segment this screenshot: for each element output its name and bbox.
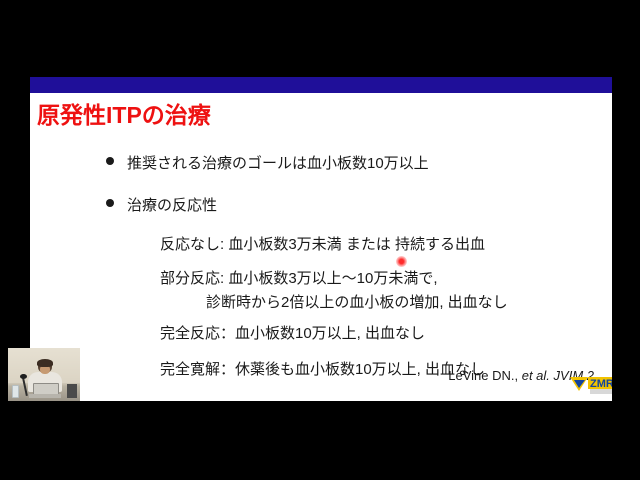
response-definition-complete-response: 完全反応：血小板数10万以上, 出血なし — [160, 325, 425, 343]
broadcaster-logo: ZMR — [568, 375, 612, 397]
citation-etal: et al. — [522, 368, 550, 383]
webcam-laptop-base — [29, 394, 61, 398]
webcam-presenter-hair — [37, 359, 53, 367]
response-definition-complete-remission: 完全寛解：休薬後も血小板数10万以上, 出血なし — [160, 361, 485, 379]
response-definition-partial-response: 部分反応: 血小板数3万以上〜10万未満で, — [160, 270, 438, 288]
bullet-label: 治療の反応性 — [127, 197, 217, 215]
citation-author: LeVine DN., — [448, 368, 518, 383]
response-definition-no-response: 反応なし: 血小板数3万未満 または 持続する出血 — [160, 236, 485, 254]
svg-text:ZMR: ZMR — [590, 378, 612, 390]
webcam-water-bottle — [12, 385, 19, 398]
webcam-desk-object — [67, 384, 77, 398]
slide-bullet-item: 治療の反応性 — [106, 197, 217, 215]
presenter-webcam[interactable] — [8, 348, 80, 401]
slide-accent-bar — [30, 77, 612, 93]
bullet-label: 推奨される治療のゴールは血小板数10万以上 — [127, 155, 429, 173]
screen-background: 原発性ITPの治療 推奨される治療のゴールは血小板数10万以上 治療の反応性 反… — [0, 0, 640, 480]
webcam-microphone-icon — [20, 374, 27, 379]
response-definition-partial-response-continued: 診断時から2倍以上の血小板の増加, 出血なし — [206, 294, 508, 312]
bullet-marker-icon — [106, 157, 114, 165]
presentation-slide: 原発性ITPの治療 推奨される治療のゴールは血小板数10万以上 治療の反応性 反… — [30, 77, 612, 401]
laser-pointer-dot — [396, 256, 407, 267]
bullet-marker-icon — [106, 199, 114, 207]
slide-title: 原発性ITPの治療 — [37, 103, 211, 128]
slide-bullet-item: 推奨される治療のゴールは血小板数10万以上 — [106, 155, 429, 173]
